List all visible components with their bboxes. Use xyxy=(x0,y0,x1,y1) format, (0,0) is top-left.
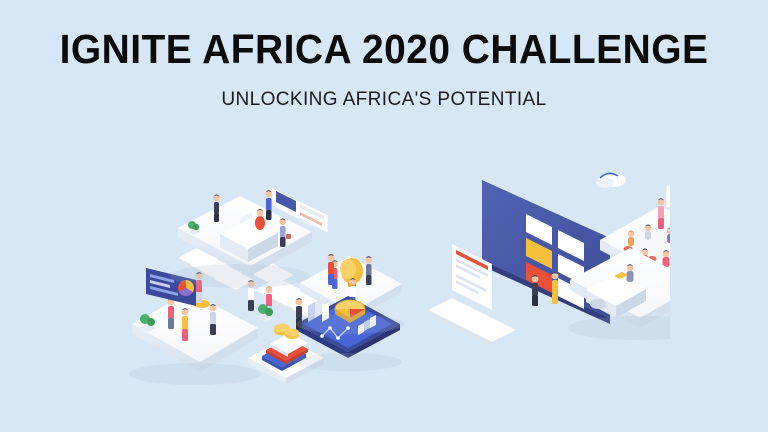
cloud-icon xyxy=(596,173,626,188)
person xyxy=(328,254,335,285)
person xyxy=(645,225,651,241)
person xyxy=(658,198,665,229)
person xyxy=(168,298,175,329)
poster-canvas: IGNITE AFRICA 2020 CHALLENGE UNLOCKING A… xyxy=(0,0,768,432)
person xyxy=(366,256,372,285)
person xyxy=(213,195,219,223)
hero-illustration xyxy=(100,128,670,388)
person xyxy=(552,272,559,304)
person xyxy=(627,264,634,282)
person xyxy=(182,308,189,341)
page-title: IGNITE AFRICA 2020 CHALLENGE xyxy=(19,28,749,71)
person xyxy=(628,231,634,247)
isometric-scene-svg xyxy=(100,128,670,388)
person xyxy=(210,304,217,335)
person xyxy=(532,275,539,306)
person xyxy=(663,250,670,267)
page-subtitle: UNLOCKING AFRICA'S POTENTIAL xyxy=(0,89,768,111)
person xyxy=(265,190,272,220)
